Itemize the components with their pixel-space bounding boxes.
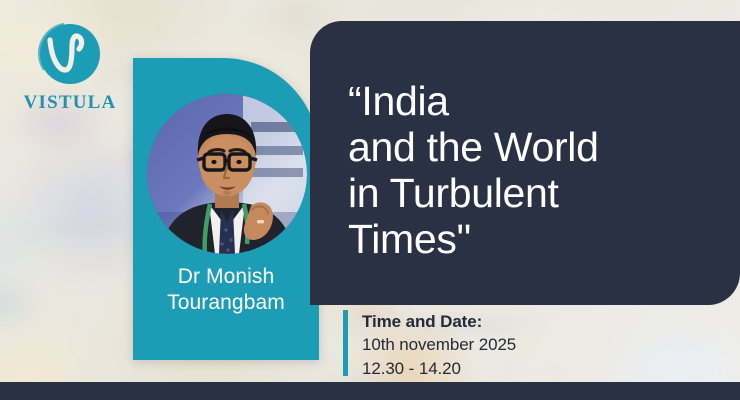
speaker-name-line1: Dr Monish [133, 264, 319, 290]
schedule-accent-bar [343, 310, 348, 376]
event-title-line4: Times" [348, 217, 724, 263]
vistula-logo-text: VISTULA [22, 92, 118, 114]
event-title-line1: “India [348, 79, 724, 125]
footer-bar [0, 382, 740, 400]
event-title: “India and the World in Turbulent Times" [348, 79, 724, 263]
schedule-time: 12.30 - 14.20 [362, 357, 516, 380]
event-title-line3: in Turbulent [348, 171, 724, 217]
schedule-date: 10th november 2025 [362, 333, 516, 356]
schedule-text: Time and Date: 10th november 2025 12.30 … [362, 310, 516, 380]
title-panel: “India and the World in Turbulent Times" [310, 21, 740, 305]
speaker-portrait-photo [147, 94, 307, 254]
schedule-heading: Time and Date: [362, 310, 516, 333]
vistula-wave-circle-icon [34, 18, 106, 90]
speaker-photo [147, 94, 307, 254]
event-poster: VISTULA [0, 0, 740, 400]
schedule-block: Time and Date: 10th november 2025 12.30 … [343, 310, 516, 380]
speaker-name-line2: Tourangbam [133, 290, 319, 316]
vistula-logo: VISTULA [22, 18, 118, 118]
event-title-line2: and the World [348, 125, 724, 171]
speaker-card: Dr Monish Tourangbam [133, 58, 319, 360]
speaker-name: Dr Monish Tourangbam [133, 264, 319, 315]
